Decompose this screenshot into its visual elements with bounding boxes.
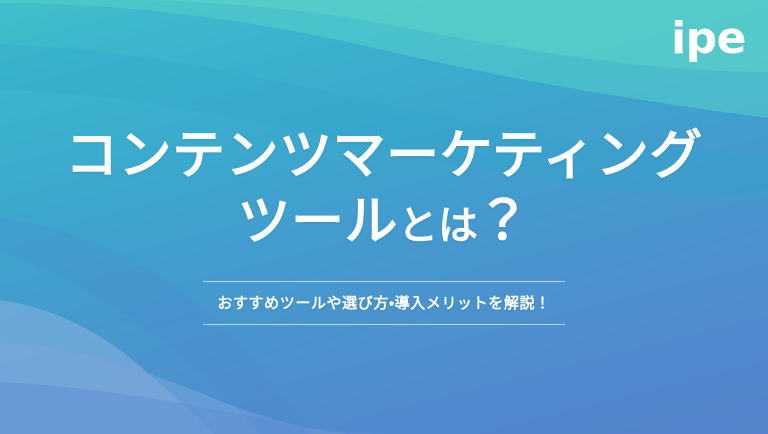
title-question-mark: ？ bbox=[476, 191, 531, 251]
page-title: コンテンツマーケティング ツールとは？ bbox=[65, 125, 703, 253]
title-line-2: ツールとは？ bbox=[65, 190, 703, 253]
subtitle-block: おすすめツールや選び方・導入メリットを解説！ bbox=[203, 281, 565, 325]
title-line-1: コンテンツマーケティング bbox=[65, 125, 703, 186]
banner-content: コンテンツマーケティング ツールとは？ おすすめツールや選び方・導入メリットを解… bbox=[0, 0, 768, 434]
hero-banner: ipe コンテンツマーケティング ツールとは？ おすすめツールや選び方・導入メリ… bbox=[0, 0, 768, 434]
subtitle-text: おすすめツールや選び方・導入メリットを解説！ bbox=[217, 282, 550, 324]
title-line-2-suffix: とは bbox=[398, 204, 478, 248]
title-line-2-main: ツール bbox=[237, 192, 398, 251]
subtitle-rule-bottom bbox=[203, 324, 565, 325]
